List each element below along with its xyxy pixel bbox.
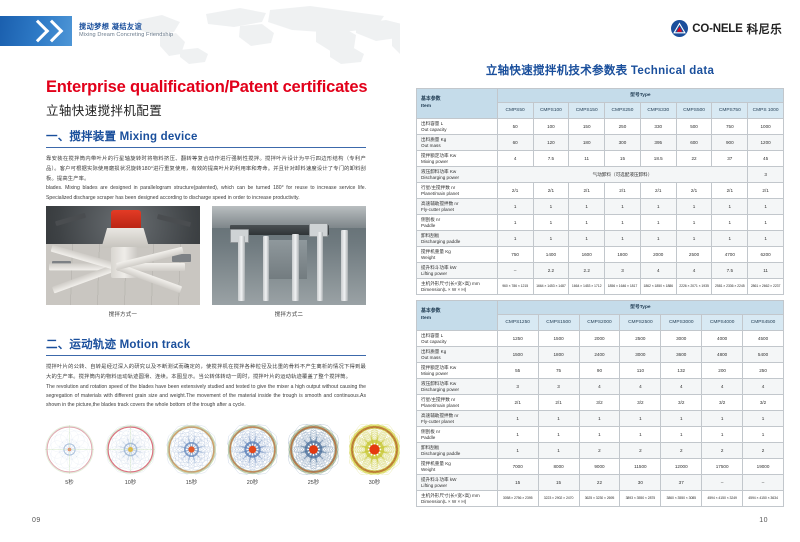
row-label-en: Lifting power xyxy=(421,483,497,489)
table-cell: 2 xyxy=(702,443,743,459)
table-header-type: 型号Type xyxy=(497,89,783,103)
table-cell: 1 xyxy=(569,215,605,231)
table-cell: 900 xyxy=(712,135,748,151)
row-label-en: Weight xyxy=(421,467,497,473)
motion-track-label: 30秒 xyxy=(349,478,400,486)
table-cell-dimension: 1664 × 1453 × 1487 xyxy=(533,279,569,295)
table-row: 出料容量 LOut capacity1250150020002500300040… xyxy=(417,331,784,347)
row-label-en: Discharging paddle xyxy=(421,451,497,457)
table-cell: 1400 xyxy=(533,247,569,263)
table-cell: 1 xyxy=(533,231,569,247)
section-mixing-heading: 一、搅拌装置 Mixing device xyxy=(46,128,366,144)
table-cell: 4 xyxy=(661,379,702,395)
table-cell: 55 xyxy=(497,363,538,379)
conele-logo: CO-NELE 科尼乐 xyxy=(671,20,782,37)
table-cell: 1 xyxy=(569,231,605,247)
row-label-en: Out capacity xyxy=(421,339,497,345)
motion-track-label: 5秒 xyxy=(44,478,95,486)
table-cell: 2.2 xyxy=(533,263,569,279)
table-header-model: CMPS2000 xyxy=(579,315,620,331)
table-row-label: 主机外形尺寸(长×宽×高) mmDimension(L × W × H) xyxy=(417,279,498,295)
table-cell: 1 xyxy=(702,427,743,443)
table-cell: 1 xyxy=(748,231,784,247)
table-row: 行星/主搅拌数 nrPlanet/main planet2/12/12/12/1… xyxy=(417,183,784,199)
logo-text-cn: 科尼乐 xyxy=(747,21,782,37)
table-row: 搅拌额定功率 KwMixing power47.5111518.5223745 xyxy=(417,151,784,167)
table-cell: 2500 xyxy=(676,247,712,263)
table-row: 侧刮板 nrPaddle11111111 xyxy=(417,215,784,231)
table-cell: 1 xyxy=(497,427,538,443)
table-cell: 4500 xyxy=(743,331,784,347)
table-row: 高速辅助搅拌数 nrFly-cutter planet11111111 xyxy=(417,199,784,215)
table-row-label: 高速辅助搅拌数 nrFly-cutter planet xyxy=(417,199,498,215)
photo-caption-1: 搅拌方式一 xyxy=(46,310,200,318)
table-cell: 3 xyxy=(497,379,538,395)
double-chevron-icon xyxy=(0,16,72,46)
row-label-en: Weight xyxy=(421,255,497,261)
table-cell: 2/1 xyxy=(533,183,569,199)
table-cell: 2400 xyxy=(579,347,620,363)
table-row: 行星/主搅拌数 nrPlanet/main planet2/12/13/23/2… xyxy=(417,395,784,411)
table-cell: 2/1 xyxy=(748,183,784,199)
row-label-en: Paddle xyxy=(421,435,497,441)
table-cell: 1 xyxy=(579,411,620,427)
table-cell: 1800 xyxy=(605,247,641,263)
table-cell: 1 xyxy=(712,215,748,231)
table-cell: 1 xyxy=(640,231,676,247)
table-cell-dimension: 1856 × 1646 × 1817 xyxy=(605,279,641,295)
table-row: 搅拌额定功率 KwMixing power557590110132200250 xyxy=(417,363,784,379)
motion-track-diagram xyxy=(349,424,400,475)
table-cell: – xyxy=(702,475,743,491)
table-cell: 1 xyxy=(538,411,579,427)
motion-track-cell: 15秒 xyxy=(166,424,217,486)
table-row: 液压卸料功率 KwDischarging power气动卸料（可选配液压卸料）3 xyxy=(417,167,784,183)
row-label-en: Dimension(L × W × H) xyxy=(421,499,497,505)
table-row: 卸料刮板Discharging paddle11111111 xyxy=(417,231,784,247)
table-cell: 1 xyxy=(676,215,712,231)
table-cell: 4 xyxy=(676,263,712,279)
row-label-en: Discharging paddle xyxy=(421,239,497,245)
table-header-item-en: Item xyxy=(421,104,497,110)
table-cell: 2/1 xyxy=(640,183,676,199)
table-cell: 3 xyxy=(605,263,641,279)
table-header-model: CMPS150 xyxy=(569,103,605,119)
banner-slogan-cn: 搅动梦想 凝结友谊 xyxy=(79,23,173,31)
row-label-en: Discharging power xyxy=(421,175,497,181)
motion-track-cell: 10秒 xyxy=(105,424,156,486)
table-cell: 2 xyxy=(661,443,702,459)
table-row-label: 提升料斗功率 kWLifting power xyxy=(417,263,498,279)
table-cell: 180 xyxy=(569,135,605,151)
table-cell: 750 xyxy=(497,247,533,263)
section-divider xyxy=(46,147,366,148)
left-page: 搅动梦想 凝结友谊 Mixing Dream Concreting Friend… xyxy=(0,0,400,542)
table-cell: 45 xyxy=(748,151,784,167)
table-row-label: 搅拌额定功率 KwMixing power xyxy=(417,151,498,167)
table-cell: 7.5 xyxy=(712,263,748,279)
table-cell: 4700 xyxy=(712,247,748,263)
table-header-model: CMPS330 xyxy=(640,103,676,119)
table-row-label: 主机外形尺寸(长×宽×高) mmDimension(L × W × H) xyxy=(417,491,498,507)
motion-track-diagram-row: 5秒10秒15秒20秒25秒30秒 xyxy=(44,424,400,486)
table-cell-dimension: 3625 × 3230 × 2695 xyxy=(579,491,620,507)
table-row-label: 卸料刮板Discharging paddle xyxy=(417,231,498,247)
table-row: 提升料斗功率 kWLifting power1515223037–– xyxy=(417,475,784,491)
table-header-type: 型号Type xyxy=(497,301,783,315)
table-cell: 4 xyxy=(640,263,676,279)
table-cell: 18.5 xyxy=(640,151,676,167)
row-label-en: Discharging power xyxy=(421,387,497,393)
table-cell: 2/1 xyxy=(497,395,538,411)
table-cell-dimension: 2581 × 2336 × 2245 xyxy=(712,279,748,295)
table-cell: 3/2 xyxy=(620,395,661,411)
support-posts-photo xyxy=(212,206,366,305)
table-row-label: 搅拌机重量 KgWeight xyxy=(417,459,498,475)
table-cell: 1 xyxy=(497,199,533,215)
photo-cell-1: 搅拌方式一 xyxy=(46,206,200,318)
table-row-label: 出料质量 KgOut mass xyxy=(417,135,498,151)
row-label-en: Out capacity xyxy=(421,127,497,133)
motion-track-cell: 25秒 xyxy=(288,424,339,486)
table-cell: 250 xyxy=(743,363,784,379)
table-cell: 500 xyxy=(676,119,712,135)
motion-track-cell: 5秒 xyxy=(44,424,95,486)
table-cell: 1 xyxy=(497,411,538,427)
technical-data-table-2: 基本参数Item型号TypeCMPS1250CMPS1500CMPS2000CM… xyxy=(416,300,784,507)
section-motion-paragraph-cn: 搅拌叶片的公转、自转是经过深入的研究以及不断测试而确定的，使搅拌机在搅拌各种粒径… xyxy=(46,363,366,383)
table-header-item: 基本参数Item xyxy=(417,301,498,331)
table-cell-dimension: 3058 × 2756 × 2395 xyxy=(497,491,538,507)
table-cell: 7.5 xyxy=(533,151,569,167)
row-label-en: Planet/main planet xyxy=(421,403,497,409)
table-cell: 4000 xyxy=(702,331,743,347)
table-cell: 1500 xyxy=(497,347,538,363)
table-cell: 1 xyxy=(497,215,533,231)
section-motion-heading: 二、运动轨迹 Motion track xyxy=(46,336,366,352)
table-cell: 1 xyxy=(640,199,676,215)
table-cell: 1250 xyxy=(497,331,538,347)
table-cell-dimension: 2861 × 2662 × 2237 xyxy=(748,279,784,295)
table-row-label: 出料质量 KgOut mass xyxy=(417,347,498,363)
table-row-label: 侧刮板 nrPaddle xyxy=(417,215,498,231)
page-title-en: Enterprise qualification/Patent certific… xyxy=(46,78,367,97)
table-cell: 11500 xyxy=(620,459,661,475)
row-label-en: Fly-cutter planet xyxy=(421,419,497,425)
table-cell: 2/1 xyxy=(712,183,748,199)
table-cell: 1 xyxy=(712,231,748,247)
table-cell: 1 xyxy=(743,411,784,427)
table-cell: 3/2 xyxy=(661,395,702,411)
table-row-label: 行星/主搅拌数 nrPlanet/main planet xyxy=(417,395,498,411)
table-cell: 17500 xyxy=(702,459,743,475)
table-header-model: CMPS100 xyxy=(533,103,569,119)
section-divider xyxy=(46,355,366,356)
section-mixing-device: 一、搅拌装置 Mixing device 靠安装在搅拌筒内带叶片的行星轴旋转时将… xyxy=(46,128,366,203)
table-cell: 110 xyxy=(620,363,661,379)
table-cell: 2 xyxy=(620,443,661,459)
table-cell: 1 xyxy=(748,215,784,231)
table-cell: 1 xyxy=(661,411,702,427)
motion-track-diagram xyxy=(44,424,95,475)
table-cell: 2/1 xyxy=(605,183,641,199)
table-cell: 22 xyxy=(579,475,620,491)
section-mixing-paragraph-cn: 靠安装在搅拌筒内带叶片的行星轴旋转时将物料挤压、翻转等复合动作进行强制性搅拌。搅… xyxy=(46,155,366,184)
table-cell: 1 xyxy=(497,231,533,247)
table-cell: 7000 xyxy=(497,459,538,475)
table-row: 搅拌机重量 KgWeight70008000900011500120001750… xyxy=(417,459,784,475)
table-cell: 1 xyxy=(533,199,569,215)
table-cell: 15 xyxy=(497,475,538,491)
page-title-cn: 立轴快速搅拌机配置 xyxy=(46,100,162,119)
table-cell: 150 xyxy=(569,119,605,135)
table-row-label: 行星/主搅拌数 nrPlanet/main planet xyxy=(417,183,498,199)
table-header-model: CMPS3000 xyxy=(661,315,702,331)
motion-track-label: 25秒 xyxy=(288,478,339,486)
row-label-en: Mixing power xyxy=(421,159,497,165)
photo-caption-2: 搅拌方式二 xyxy=(212,310,366,318)
table-header-model: CMPS750 xyxy=(712,103,748,119)
row-label-en: Dimension(L × W × H) xyxy=(421,287,497,293)
table-row: 侧刮板 nrPaddle1111111 xyxy=(417,427,784,443)
table-cell-dimension: 960 × 786 × 1215 xyxy=(497,279,533,295)
table-row-label: 搅拌额定功率 KwMixing power xyxy=(417,363,498,379)
motion-track-label: 15秒 xyxy=(166,478,217,486)
table-cell: – xyxy=(497,263,533,279)
table-row: 出料质量 KgOut mass601201803003956009001200 xyxy=(417,135,784,151)
table-cell: 132 xyxy=(661,363,702,379)
table-cell: 330 xyxy=(640,119,676,135)
table-header-item-en: Item xyxy=(421,316,497,322)
table-cell-dimension: 4594 × 4150 × 3249 xyxy=(702,491,743,507)
table-row: 搅拌机重量 KgWeight75014001600180020002500470… xyxy=(417,247,784,263)
table-cell: 11 xyxy=(748,263,784,279)
row-label-en: Out mass xyxy=(421,143,497,149)
table-cell: 1500 xyxy=(538,331,579,347)
table-cell: 75 xyxy=(538,363,579,379)
table-row-label: 液压卸料功率 KwDischarging power xyxy=(417,379,498,395)
motion-track-diagram xyxy=(227,424,278,475)
section-motion-track: 二、运动轨迹 Motion track 搅拌叶片的公转、自转是经过深入的研究以及… xyxy=(46,336,366,410)
brand-banner: 搅动梦想 凝结友谊 Mixing Dream Concreting Friend… xyxy=(0,16,173,46)
table-row: 液压卸料功率 KwDischarging power3344444 xyxy=(417,379,784,395)
table-cell-dimension: 1664 × 1453 × 1712 xyxy=(569,279,605,295)
table-cell-merged: 气动卸料（可选配液压卸料） xyxy=(497,167,747,183)
table-cell: 9000 xyxy=(579,459,620,475)
table-cell: 1 xyxy=(497,443,538,459)
table-row: 提升料斗功率 kWLifting power–2.22.23447.511 xyxy=(417,263,784,279)
page-number-left: 09 xyxy=(32,517,41,524)
table-row-label: 提升料斗功率 kWLifting power xyxy=(417,475,498,491)
table-cell: 3/2 xyxy=(579,395,620,411)
conele-mark-icon xyxy=(671,20,688,37)
table-cell: 1 xyxy=(676,231,712,247)
table-cell: 1200 xyxy=(748,135,784,151)
table-cell: 1 xyxy=(538,443,579,459)
page-number-right: 10 xyxy=(759,517,768,524)
table-cell: 90 xyxy=(579,363,620,379)
table-cell: 4 xyxy=(497,151,533,167)
table-cell: – xyxy=(743,475,784,491)
table-cell: 4 xyxy=(579,379,620,395)
table-cell: 3/2 xyxy=(743,395,784,411)
row-label-en: Lifting power xyxy=(421,271,497,277)
table-header-item: 基本参数Item xyxy=(417,89,498,119)
table-cell: 50 xyxy=(497,119,533,135)
table-cell: 1 xyxy=(712,199,748,215)
table-row: 主机外形尺寸(长×宽×高) mmDimension(L × W × H)3058… xyxy=(417,491,784,507)
table-cell: 1 xyxy=(661,427,702,443)
table-cell: 1 xyxy=(743,427,784,443)
table-cell: 15 xyxy=(538,475,579,491)
table-cell: 1000 xyxy=(748,119,784,135)
row-label-en: Planet/main planet xyxy=(421,191,497,197)
motion-track-diagram xyxy=(288,424,339,475)
table-cell: 395 xyxy=(640,135,676,151)
logo-text-en: CO-NELE xyxy=(692,23,742,35)
table-cell: 1 xyxy=(533,215,569,231)
motion-track-label: 20秒 xyxy=(227,478,278,486)
table-row: 卸料刮板Discharging paddle1122222 xyxy=(417,443,784,459)
table-cell: 1 xyxy=(620,411,661,427)
table-cell: 1600 xyxy=(569,247,605,263)
table-cell: 4800 xyxy=(702,347,743,363)
technical-data-table-1: 基本参数Item型号TypeCMPS50CMPS100CMPS150CMPS25… xyxy=(416,88,784,295)
table-cell-dimension: 3860 × 3550 × 3085 xyxy=(661,491,702,507)
table-cell: 22 xyxy=(676,151,712,167)
table-cell: 750 xyxy=(712,119,748,135)
table-row-label: 出料容量 LOut capacity xyxy=(417,119,498,135)
table-cell: 2000 xyxy=(640,247,676,263)
table-cell: 6200 xyxy=(748,247,784,263)
table-cell: 3000 xyxy=(661,331,702,347)
banner-slogan-en: Mixing Dream Concreting Friendship xyxy=(79,32,173,39)
table-cell: 1 xyxy=(640,215,676,231)
table-row-label: 液压卸料功率 KwDischarging power xyxy=(417,167,498,183)
table-cell: 3000 xyxy=(620,347,661,363)
table-cell: 2000 xyxy=(579,331,620,347)
table-cell: 1 xyxy=(605,231,641,247)
table-cell: 2/1 xyxy=(538,395,579,411)
table-row: 高速辅助搅拌数 nrFly-cutter planet1111111 xyxy=(417,411,784,427)
motion-track-diagram xyxy=(166,424,217,475)
table-cell: 1 xyxy=(569,199,605,215)
row-label-en: Mixing power xyxy=(421,371,497,377)
table-cell: 4 xyxy=(702,379,743,395)
table-cell: 1 xyxy=(605,199,641,215)
table-header-model: CMPS2500 xyxy=(620,315,661,331)
table-cell: 30 xyxy=(620,475,661,491)
table-row: 主机外形尺寸(长×宽×高) mmDimension(L × W × H)960 … xyxy=(417,279,784,295)
table-cell: 11 xyxy=(569,151,605,167)
table-cell: 2500 xyxy=(620,331,661,347)
table-row-label: 侧刮板 nrPaddle xyxy=(417,427,498,443)
table-cell: 3 xyxy=(748,167,784,183)
table-cell-dimension: 3893 × 3550 × 2875 xyxy=(620,491,661,507)
table-cell: 3 xyxy=(538,379,579,395)
table-cell: 4 xyxy=(620,379,661,395)
table-header-model: CMPS500 xyxy=(676,103,712,119)
page-spread: 搅动梦想 凝结友谊 Mixing Dream Concreting Friend… xyxy=(0,0,800,542)
photo-row: 搅拌方式一 搅拌方式二 xyxy=(46,206,366,318)
table-cell: 3600 xyxy=(661,347,702,363)
table-row: 出料质量 KgOut mass1500180024003000360048005… xyxy=(417,347,784,363)
table-cell: 250 xyxy=(605,119,641,135)
table-cell: 2/1 xyxy=(676,183,712,199)
table-cell-dimension: 4594 × 4150 × 3634 xyxy=(743,491,784,507)
table-cell: 1 xyxy=(702,411,743,427)
table-cell: 1 xyxy=(538,427,579,443)
table-cell: 120 xyxy=(533,135,569,151)
table-cell: 2/1 xyxy=(497,183,533,199)
table-cell: 1 xyxy=(605,215,641,231)
table-cell-dimension: 2226 × 2071 × 1935 xyxy=(676,279,712,295)
motion-track-cell: 30秒 xyxy=(349,424,400,486)
section-motion-paragraph-en: The revolution and rotation speed of the… xyxy=(46,383,366,411)
section-mixing-paragraph-en: blades. Mixing blades are designed in pa… xyxy=(46,184,366,203)
table-cell: 37 xyxy=(661,475,702,491)
table-cell: 300 xyxy=(605,135,641,151)
table-cell: 1 xyxy=(620,427,661,443)
table-cell: 3/2 xyxy=(702,395,743,411)
table-cell: 200 xyxy=(702,363,743,379)
table-cell: 2.2 xyxy=(569,263,605,279)
row-label-en: Out mass xyxy=(421,355,497,361)
table-header-model: CMPS1500 xyxy=(538,315,579,331)
table-header-model: CMPS4500 xyxy=(743,315,784,331)
table-cell: 1800 xyxy=(538,347,579,363)
table-cell: 5400 xyxy=(743,347,784,363)
table-cell: 1 xyxy=(748,199,784,215)
brand-banner-text: 搅动梦想 凝结友谊 Mixing Dream Concreting Friend… xyxy=(79,23,173,38)
table-cell-dimension: 3223 × 2902 × 2470 xyxy=(538,491,579,507)
table-cell: 1 xyxy=(676,199,712,215)
table-row-label: 卸料刮板Discharging paddle xyxy=(417,443,498,459)
table-cell: 12000 xyxy=(661,459,702,475)
table-row-label: 搅拌机重量 KgWeight xyxy=(417,247,498,263)
table-cell: 1 xyxy=(579,427,620,443)
row-label-en: Paddle xyxy=(421,223,497,229)
row-label-en: Fly-cutter planet xyxy=(421,207,497,213)
table-cell: 60 xyxy=(497,135,533,151)
right-page: CO-NELE 科尼乐 立轴快速搅拌机技术参数表 Technical data … xyxy=(400,0,800,542)
table-header-model: CMPS1250 xyxy=(497,315,538,331)
mixing-arm-photo xyxy=(46,206,200,305)
table-cell: 2 xyxy=(579,443,620,459)
table-row-label: 出料容量 LOut capacity xyxy=(417,331,498,347)
table-cell: 2 xyxy=(743,443,784,459)
table-header-model: CMPS4000 xyxy=(702,315,743,331)
table-cell: 37 xyxy=(712,151,748,167)
technical-data-title: 立轴快速搅拌机技术参数表 Technical data xyxy=(400,62,800,78)
table-cell: 2/1 xyxy=(569,183,605,199)
table-cell: 15 xyxy=(605,151,641,167)
table-row: 出料容量 LOut capacity5010015025033050075010… xyxy=(417,119,784,135)
photo-cell-2: 搅拌方式二 xyxy=(212,206,366,318)
table-row-label: 高速辅助搅拌数 nrFly-cutter planet xyxy=(417,411,498,427)
table-header-model: CMPS250 xyxy=(605,103,641,119)
motion-track-cell: 20秒 xyxy=(227,424,278,486)
table-cell: 8000 xyxy=(538,459,579,475)
table-header-model: CMPS50 xyxy=(497,103,533,119)
table-cell: 19000 xyxy=(743,459,784,475)
motion-track-label: 10秒 xyxy=(105,478,156,486)
table-cell: 100 xyxy=(533,119,569,135)
table-header-model: CMPS 1000 xyxy=(748,103,784,119)
table-cell: 4 xyxy=(743,379,784,395)
table-cell: 600 xyxy=(676,135,712,151)
table-cell-dimension: 1862 × 1850 × 1886 xyxy=(640,279,676,295)
